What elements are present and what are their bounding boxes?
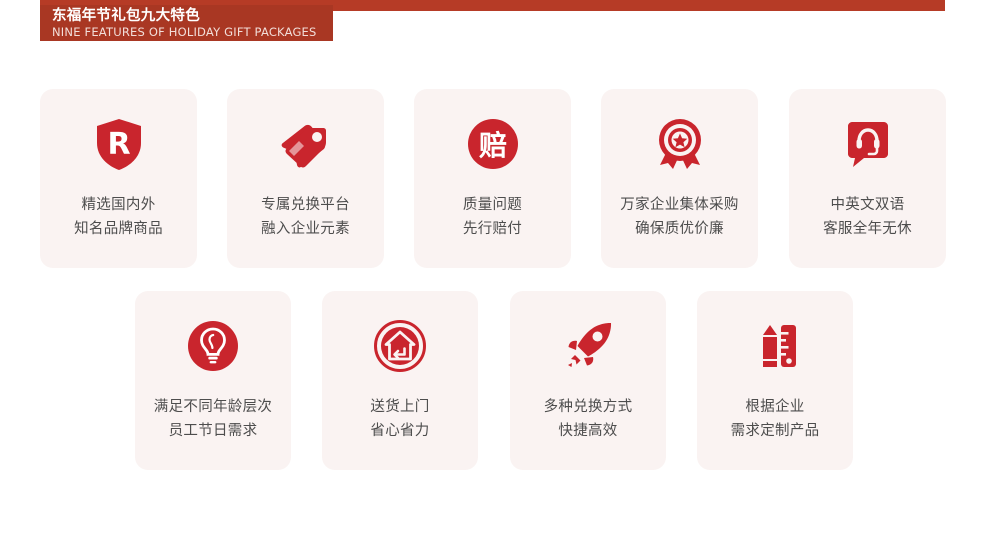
feature-line-1: 满足不同年龄层次: [154, 395, 272, 419]
feature-line-1: 万家企业集体采购: [620, 193, 738, 217]
header-title-chinese: 东福年节礼包九大特色: [52, 8, 333, 25]
feature-card-group-purchasing[interactable]: 万家企业集体采购 确保质优价廉: [601, 89, 758, 268]
feature-line-2: 快捷高效: [544, 419, 633, 443]
customer-service-headset-icon: [837, 113, 899, 175]
feature-line-2: 客服全年无休: [823, 217, 912, 241]
feature-card-text: 送货上门 省心省力: [370, 395, 429, 443]
rocket-icon: [557, 315, 619, 377]
feature-card-brand-selection[interactable]: R 精选国内外 知名品牌商品: [40, 89, 197, 268]
feature-card-text: 满足不同年龄层次 员工节日需求: [154, 395, 272, 443]
feature-card-text: 万家企业集体采购 确保质优价廉: [620, 193, 738, 241]
feature-line-1: 根据企业: [731, 395, 820, 419]
feature-line-2: 省心省力: [370, 419, 429, 443]
home-delivery-icon: [369, 315, 431, 377]
feature-card-text: 质量问题 先行赔付: [463, 193, 522, 241]
header-title-block: 东福年节礼包九大特色 NINE FEATURES OF HOLIDAY GIFT…: [40, 5, 333, 41]
award-medal-icon: [649, 113, 711, 175]
feature-line-1: 质量问题: [463, 193, 522, 217]
shield-r-icon: R: [88, 113, 150, 175]
feature-line-1: 多种兑换方式: [544, 395, 633, 419]
feature-card-exchange-methods[interactable]: 多种兑换方式 快捷高效: [510, 291, 666, 470]
feature-line-1: 精选国内外: [74, 193, 163, 217]
feature-line-2: 员工节日需求: [154, 419, 272, 443]
pencil-ruler-icon: [744, 315, 806, 377]
price-tag-icon: [275, 113, 337, 175]
feature-line-2: 知名品牌商品: [74, 217, 163, 241]
feature-line-1: 中英文双语: [823, 193, 912, 217]
feature-line-1: 专属兑换平台: [261, 193, 350, 217]
feature-card-text: 精选国内外 知名品牌商品: [74, 193, 163, 241]
feature-card-exchange-platform[interactable]: 专属兑换平台 融入企业元素: [227, 89, 384, 268]
feature-card-text: 根据企业 需求定制产品: [731, 395, 820, 443]
feature-card-text: 多种兑换方式 快捷高效: [544, 395, 633, 443]
feature-line-2: 确保质优价廉: [620, 217, 738, 241]
feature-card-custom-products[interactable]: 根据企业 需求定制产品: [697, 291, 853, 470]
feature-line-2: 融入企业元素: [261, 217, 350, 241]
feature-line-2: 先行赔付: [463, 217, 522, 241]
svg-text:赔: 赔: [478, 129, 506, 162]
header-title-english: NINE FEATURES OF HOLIDAY GIFT PACKAGES: [52, 25, 333, 40]
feature-line-1: 送货上门: [370, 395, 429, 419]
feature-card-text: 专属兑换平台 融入企业元素: [261, 193, 350, 241]
feature-card-bilingual-service[interactable]: 中英文双语 客服全年无休: [789, 89, 946, 268]
feature-card-age-groups[interactable]: 满足不同年龄层次 员工节日需求: [135, 291, 291, 470]
feature-card-text: 中英文双语 客服全年无休: [823, 193, 912, 241]
compensate-circle-icon: 赔: [462, 113, 524, 175]
lightbulb-icon: [182, 315, 244, 377]
feature-card-home-delivery[interactable]: 送货上门 省心省力: [322, 291, 478, 470]
feature-card-quality-compensation[interactable]: 赔 质量问题 先行赔付: [414, 89, 571, 268]
feature-line-2: 需求定制产品: [731, 419, 820, 443]
svg-text:R: R: [107, 127, 130, 162]
